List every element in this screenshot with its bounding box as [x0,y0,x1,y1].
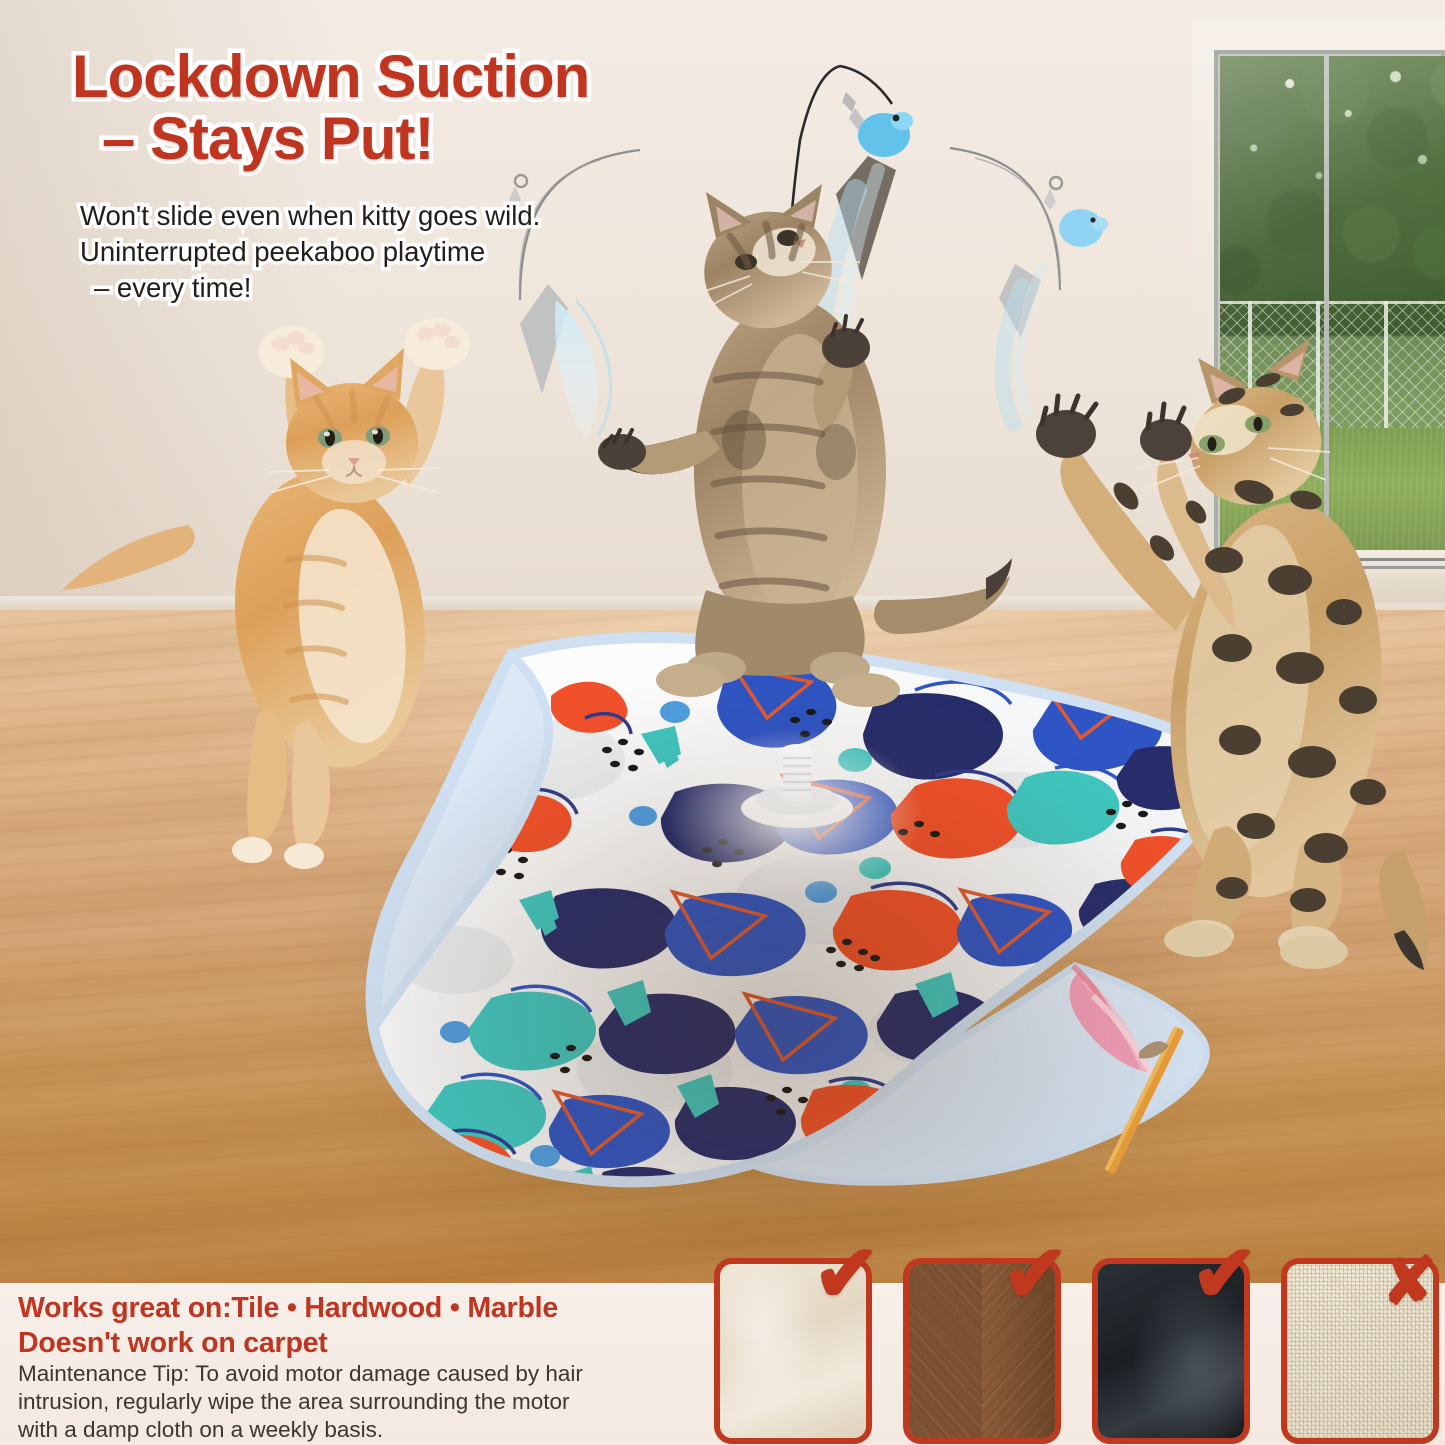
swatch-hardwood: ✔ [903,1258,1061,1444]
doesnt-work-line: Doesn't work on carpet [18,1326,678,1361]
works-great-on-line: Works great on:Tile • Hardwood • Marble [18,1291,678,1326]
cross-icon: ✘ [1382,1248,1437,1314]
swatch-carpet: ✘ [1281,1258,1439,1444]
surface-swatch-row: ✔ ✔ ✔ ✘ [714,1258,1440,1445]
checkmark-icon: ✔ [1191,1234,1258,1314]
subheadline: Won't slide even when kitty goes wild. U… [80,198,700,305]
checkmark-icon: ✔ [813,1234,880,1314]
maintenance-line-3: with a damp cloth on a weekly basis. [18,1416,678,1444]
orange-tabby-kitten [62,318,470,869]
maintenance-tip: Maintenance Tip: To avoid motor damage c… [18,1360,678,1444]
maintenance-line-2: intrusion, regularly wipe the area surro… [18,1388,678,1416]
subheadline-line-3: – every time! [80,270,700,306]
subheadline-line-2: Uninterrupted peekaboo playtime [80,236,485,267]
surface-compatibility-text: Works great on:Tile • Hardwood • Marble … [18,1291,678,1361]
maintenance-line-1: Maintenance Tip: To avoid motor damage c… [18,1360,678,1388]
headline: Lockdown Suction – Stays Put! [72,46,772,171]
checkmark-icon: ✔ [1002,1234,1069,1314]
bengal-cat [1036,338,1428,970]
headline-line-1: Lockdown Suction [72,43,589,110]
headline-line-2: – Stays Put! [72,108,772,170]
product-infographic: Lockdown Suction – Stays Put! Won't slid… [0,0,1445,1445]
subheadline-line-1: Won't slide even when kitty goes wild. [80,200,540,231]
swatch-tile: ✔ [714,1258,872,1444]
swatch-marble-dark: ✔ [1092,1258,1250,1444]
